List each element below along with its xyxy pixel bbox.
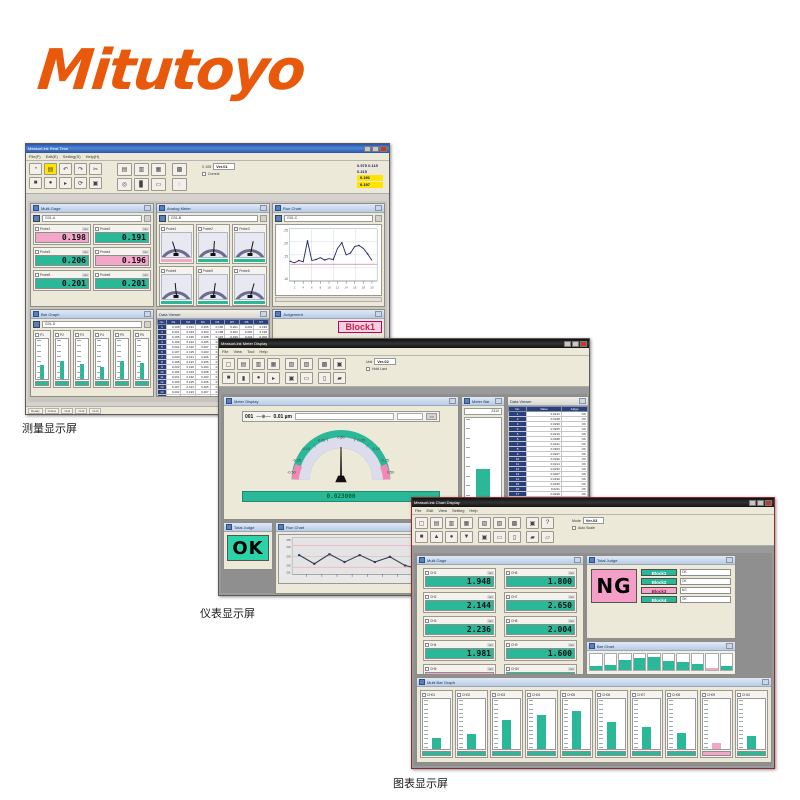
gauge-name: Probe1 (166, 227, 192, 231)
autoscale-checkbox[interactable] (572, 526, 576, 530)
toolbar-field-value[interactable]: Ver.03 (583, 517, 605, 524)
vbar-checkbox[interactable] (35, 333, 39, 337)
menu-help[interactable]: Help (259, 349, 267, 354)
window3-toolbar[interactable]: ▢ ▤ ▥ ▦ ▧ ▨ ▩ ▣ ? ■ ▲ ● ▼ ▣ ▭ ▯ ▰ ▱ (412, 515, 774, 546)
window2-titlebar[interactable]: MeasurLink Meter Display (219, 339, 589, 348)
vbar-track (597, 698, 626, 750)
window1-menubar[interactable]: File(F) Edit(E) Setting(S) Help(H) (26, 153, 389, 161)
measurement-cell[interactable]: Probe1 mm 0.198 (33, 224, 91, 245)
table-view-icon[interactable]: ▭ (151, 178, 166, 191)
status-online: Online (45, 408, 60, 414)
minimize-icon[interactable] (749, 500, 756, 506)
toolbar-field-label: X 105 (202, 165, 211, 169)
menu-setting[interactable]: Setting(S) (63, 154, 81, 159)
path-field[interactable]: G01-D (42, 321, 142, 328)
vertical-bar-gauge[interactable]: P4 (93, 330, 111, 388)
toolbar-field-value[interactable]: Ver.01 (213, 163, 235, 170)
panel-multi-gage-header[interactable]: Multi-Gage (31, 204, 153, 213)
measurement-cell[interactable]: CH1 mm 1.948 (423, 568, 496, 589)
vbar-name: CH02 (462, 693, 486, 697)
block-field[interactable]: OK (680, 569, 731, 576)
window1-window-buttons[interactable] (364, 146, 387, 152)
vertical-bar-gauge[interactable]: CH03 (490, 690, 523, 758)
strip-bar[interactable] (633, 653, 647, 671)
panel-data-viewer-2-header[interactable]: Data Viewer (508, 397, 588, 406)
stop-icon[interactable]: ■ (29, 177, 42, 189)
cell-checkbox[interactable] (506, 643, 510, 647)
zoom-out-icon[interactable]: ▨ (300, 358, 313, 370)
mdi-empty-area (738, 555, 772, 675)
layout-grid-icon[interactable]: ▩ (172, 163, 187, 176)
strip-bar[interactable] (676, 653, 690, 671)
panel-analog-meter-title: Analog Meter (167, 206, 191, 211)
measurement-cell[interactable]: CH4 mm 1.981 (423, 640, 496, 661)
cell-checkbox[interactable] (425, 643, 429, 647)
toolbar-field-value[interactable]: Ver.02 (374, 358, 396, 365)
panel-close-icon[interactable] (375, 205, 382, 211)
zoom-in-icon[interactable]: ▧ (478, 517, 491, 529)
menu-edit[interactable]: Edit (426, 508, 433, 513)
chart-view-icon[interactable]: ◌ (172, 178, 187, 191)
menu-tool[interactable]: Tool (247, 349, 254, 354)
svg-text:0.50: 0.50 (387, 471, 394, 475)
svg-text:.15: .15 (283, 255, 288, 259)
gauge-checkbox[interactable] (234, 227, 238, 231)
vbar-track (55, 338, 69, 380)
measurement-cell[interactable]: Probe5 mm 0.201 (33, 270, 91, 291)
cell-checkbox[interactable] (506, 571, 510, 575)
strip-bar[interactable] (604, 653, 618, 671)
strip-bar[interactable] (618, 653, 632, 671)
panel-judgement-body: Block1 (273, 319, 384, 335)
block-button[interactable]: Block3 (641, 587, 677, 594)
vbar-fill (572, 711, 582, 749)
panel-multi-gage[interactable]: Multi-Gage G01-A Probe1 mm 0.198 (30, 203, 154, 307)
menu-help[interactable]: Help(H) (86, 154, 100, 159)
layout-split-icon[interactable]: ▤ (117, 163, 132, 176)
stop-icon[interactable]: ■ (222, 372, 235, 384)
strip-bar[interactable] (705, 653, 719, 671)
zoom-out-icon[interactable]: ▨ (493, 517, 506, 529)
chart-x-axis-ticks (289, 281, 377, 284)
window2-window-buttons[interactable] (564, 341, 587, 347)
panel-strip-chart-header[interactable]: Bar Chart (587, 642, 735, 651)
toolbar-group-main[interactable]: ▢ ▤ ▥ ▦ ▧ ▨ ▩ ▣ ■ ▮ ● ▸ ▣ ▭ ▯ ▰ (222, 358, 346, 384)
down-icon[interactable]: ▼ (460, 531, 473, 543)
next-icon[interactable]: ▸ (267, 372, 280, 384)
measurement-cell[interactable]: CH8 mm 2.004 (504, 616, 577, 637)
camera-icon[interactable]: ▣ (285, 372, 298, 384)
analog-gauge[interactable]: Probe2 (196, 224, 231, 264)
menu-file[interactable]: File (415, 508, 421, 513)
panel-close-icon[interactable] (726, 643, 733, 649)
panel-close-icon[interactable] (375, 311, 382, 317)
panel-bar-graph-title: Bar Graph (41, 312, 59, 317)
cell-name: CH1 (430, 571, 486, 575)
panel-total-judge-title: Total Judge (234, 525, 254, 530)
vbar-checkbox[interactable] (135, 333, 139, 337)
panel-strip-chart-title: Bar Chart (597, 644, 614, 649)
panel-total-judge-3[interactable]: Total Judge NG Block1 OK Block2 OK Block… (586, 555, 736, 639)
vbar-checkbox[interactable] (632, 693, 636, 697)
measurement-cell[interactable]: CH3 mm 2.236 (423, 616, 496, 637)
window3-menubar[interactable]: File Edit View Setting Help (412, 507, 774, 515)
open-icon[interactable]: ◔ (29, 163, 42, 175)
gauge-checkbox[interactable] (161, 269, 165, 273)
cell-value: 0.201 (35, 278, 89, 289)
gauge-face (161, 274, 192, 300)
grid-icon[interactable]: ▩ (318, 358, 331, 370)
meter-input-field[interactable] (295, 413, 394, 420)
delete-icon[interactable]: ▰ (526, 531, 539, 543)
panel-close-icon[interactable] (449, 398, 456, 404)
path-dropdown-icon[interactable] (144, 321, 151, 328)
panel-run-chart-body: G01-C (273, 213, 384, 304)
zoom-in-icon[interactable]: ▧ (285, 358, 298, 370)
cell-checkbox[interactable] (35, 250, 39, 254)
vertical-bar-gauge[interactable]: CH08 (665, 690, 698, 758)
cut-icon[interactable]: ✂ (89, 163, 102, 175)
maximize-icon[interactable] (757, 500, 764, 506)
strip-bar[interactable] (589, 653, 603, 671)
measurement-cell[interactable]: CH7 mm 2.650 (504, 592, 577, 613)
block-field[interactable]: OK (680, 596, 731, 603)
strip-bar-fill (619, 660, 631, 670)
refresh-icon[interactable]: ⟳ (74, 177, 87, 189)
menu-view[interactable]: View (233, 349, 242, 354)
strip-bar[interactable] (720, 653, 734, 671)
panel-total-judge[interactable]: Total Judge OK (223, 522, 273, 570)
cell-value: 1.600 (506, 648, 575, 659)
window-chart-display[interactable]: MeasurLink Chart Display File Edit View … (411, 497, 775, 769)
vbar-checkbox[interactable] (527, 693, 531, 697)
camera-icon[interactable]: ▣ (89, 177, 102, 189)
meter-header-row[interactable]: 001 —⊕— 0.01 µm >> (242, 411, 440, 422)
panel-judgement-header[interactable]: Judgement (273, 310, 384, 319)
cell-checkbox[interactable] (35, 273, 39, 277)
panel-close-icon[interactable] (726, 557, 733, 563)
vbar-checkbox[interactable] (737, 693, 741, 697)
toolbar-field-group[interactable]: Mode Ver.03 Auto Scale (572, 517, 604, 530)
block-field[interactable]: NG (680, 587, 731, 594)
panel-strip-chart[interactable]: Bar Chart (586, 641, 736, 675)
panel-multi-gage-3-header[interactable]: Multi Gage (417, 556, 583, 565)
vbar-fill (537, 715, 547, 749)
vbar-checkbox[interactable] (702, 693, 706, 697)
window1-toolbar[interactable]: ◔ ▤ ↶ ↷ ✂ ■ ● ▸ ⟳ ▣ ▤ ▥ ▦ ▩ ◎ (26, 161, 389, 194)
bar-view-icon[interactable]: ▊ (134, 178, 149, 191)
minimize-icon[interactable] (364, 146, 371, 152)
vertical-bar-gauge[interactable]: CH05 (560, 690, 593, 758)
strip-bar[interactable] (647, 653, 661, 671)
cell-checkbox[interactable] (425, 595, 429, 599)
cell-unit: mm (142, 250, 149, 254)
measurement-cell[interactable]: CH9 mm 1.600 (504, 640, 577, 661)
settings-icon[interactable]: ▣ (526, 517, 539, 529)
gauge-checkbox[interactable] (234, 269, 238, 273)
paste-icon[interactable]: ▯ (508, 531, 521, 543)
close-icon[interactable] (580, 341, 587, 347)
vbar-value (562, 751, 591, 756)
vbar-header: CH02 (457, 692, 486, 697)
panel-run-chart[interactable]: Run Chart G01-C (272, 203, 385, 307)
hold-checkbox[interactable] (366, 367, 370, 371)
analog-gauge[interactable]: Probe5 (196, 266, 231, 306)
vbar-checkbox[interactable] (597, 693, 601, 697)
panel-meter-bar-header[interactable]: Meter Bar (462, 397, 504, 406)
block-field[interactable]: OK (680, 578, 731, 585)
block-row[interactable]: Block1 OK (641, 569, 731, 576)
panel-close-icon[interactable] (495, 398, 502, 404)
panel-bar-graph-header[interactable]: Bar Graph (31, 310, 153, 319)
panel-multi-bar-graph-header[interactable]: Multi Bar Graph (417, 678, 771, 687)
svg-text:.02: .02 (286, 564, 291, 568)
measurement-cell[interactable]: Probe4 mm 0.196 (93, 247, 151, 268)
panel-total-judge-3-header[interactable]: Total Judge (587, 556, 735, 565)
vbar-checkbox[interactable] (75, 333, 79, 337)
toolbar-field-group[interactable]: Unit Ver.02 Hold Last (366, 358, 396, 371)
vertical-bar-gauge[interactable]: CH07 (630, 690, 663, 758)
record-icon[interactable]: ● (252, 372, 265, 384)
panel-close-icon[interactable] (144, 205, 151, 211)
panel-close-icon[interactable] (762, 679, 769, 685)
vbar-fill (642, 727, 652, 749)
panel-data-viewer-header[interactable]: Data Viewer (157, 310, 269, 319)
vertical-bar-gauge[interactable]: CH09 (700, 690, 733, 758)
toolbar-group-file[interactable]: ◔ ▤ ↶ ↷ ✂ ■ ● ▸ ⟳ ▣ (29, 163, 102, 189)
cell-checkbox[interactable] (506, 619, 510, 623)
vbar-name: CH03 (497, 693, 521, 697)
minimize-icon[interactable] (564, 341, 571, 347)
menu-file[interactable]: File (222, 349, 228, 354)
vbar-value (457, 751, 486, 756)
cell-checkbox[interactable] (506, 667, 510, 671)
undo-icon[interactable]: ↶ (59, 163, 72, 175)
status-ch2: CH2 (75, 408, 87, 414)
vertical-bar-gauge[interactable]: CH04 (525, 690, 558, 758)
vbar-name: CH08 (672, 693, 696, 697)
layout-rows-icon[interactable]: ▦ (151, 163, 166, 176)
vertical-bar-gauge[interactable]: CH10 (735, 690, 768, 758)
menu-file[interactable]: File(F) (29, 154, 41, 159)
strip-bar[interactable] (691, 653, 705, 671)
cell-checkbox[interactable] (425, 619, 429, 623)
panel-close-icon[interactable] (579, 398, 586, 404)
vbar-checkbox[interactable] (422, 693, 426, 697)
help-icon[interactable]: ? (541, 517, 554, 529)
path-dropdown-icon[interactable] (144, 215, 151, 222)
status-ch1: CH1 (61, 408, 73, 414)
table-cell: 0.190 (181, 395, 196, 398)
window2-toolbar[interactable]: ▢ ▤ ▥ ▦ ▧ ▨ ▩ ▣ ■ ▮ ● ▸ ▣ ▭ ▯ ▰ Un (219, 356, 589, 387)
panel-close-icon[interactable] (574, 557, 581, 563)
panel-total-judge-header[interactable]: Total Judge (224, 523, 272, 532)
block-button[interactable]: Block1 (641, 569, 677, 576)
vbar-value (737, 751, 766, 756)
readout-value1: 0.191 (357, 175, 383, 181)
measurement-cell[interactable]: Probe3 mm 0.206 (33, 247, 91, 268)
block-row[interactable]: Block4 OK (641, 596, 731, 603)
window2-menubar[interactable]: File View Tool Help (219, 348, 589, 356)
menu-help[interactable]: Help (469, 508, 477, 513)
grid-icon[interactable]: ▩ (508, 517, 521, 529)
vertical-bar-gauge[interactable]: P6 (133, 330, 151, 388)
stop-icon[interactable]: ■ (415, 531, 428, 543)
meter-second-field[interactable] (397, 413, 423, 420)
save-icon[interactable]: ▤ (44, 163, 57, 175)
print-icon[interactable]: ▦ (267, 358, 280, 370)
close-icon[interactable] (380, 146, 387, 152)
maximize-icon[interactable] (572, 341, 579, 347)
cell-checkbox[interactable] (95, 250, 99, 254)
panel-analog-meter[interactable]: Analog Meter G01-B Probe1 (156, 203, 270, 307)
vbar-checkbox[interactable] (492, 693, 496, 697)
toolbar-group-main[interactable]: ▢ ▤ ▥ ▦ ▧ ▨ ▩ ▣ ? ■ ▲ ● ▼ ▣ ▭ ▯ ▰ ▱ (415, 517, 554, 543)
play-icon[interactable]: ▸ (59, 177, 72, 189)
toolbar-field-group[interactable]: X 105 Ver.01 Correct (202, 163, 235, 176)
gauge-view-icon[interactable]: ◎ (117, 178, 132, 191)
cell-checkbox[interactable] (506, 595, 510, 599)
measurement-cell[interactable]: CH2 mm 2.144 (423, 592, 496, 613)
correct-checkbox[interactable] (202, 172, 206, 176)
window1-titlebar[interactable]: MeasurLink Real-Time (26, 144, 389, 153)
svg-text:.03: .03 (286, 555, 291, 559)
panel-run-chart-header[interactable]: Run Chart (273, 204, 384, 213)
measurement-cell[interactable]: CH10 mm 1.421 (504, 664, 577, 675)
menu-setting[interactable]: Setting (452, 508, 464, 513)
open-icon[interactable]: ▤ (430, 517, 443, 529)
gauge-checkbox[interactable] (198, 269, 202, 273)
up-icon[interactable]: ▲ (430, 531, 443, 543)
vbar-checkbox[interactable] (457, 693, 461, 697)
vertical-bar-gauge[interactable]: P1 (33, 330, 51, 388)
analog-gauge[interactable]: Probe6 (232, 266, 267, 306)
readout-line2: 0.215 (357, 169, 367, 174)
window3-window-buttons[interactable] (749, 500, 772, 506)
gauge-name: Probe5 (203, 269, 229, 273)
measurement-cell[interactable]: CH6 mm 1.800 (504, 568, 577, 589)
cell-value: 2.650 (506, 600, 575, 611)
vertical-bar-gauge[interactable]: P5 (113, 330, 131, 388)
panel-meter-bar-title: Meter Bar (472, 399, 490, 404)
measurement-cell[interactable]: Probe6 mm 0.201 (93, 270, 151, 291)
copy-icon[interactable]: ▭ (493, 531, 506, 543)
cell-unit: mm (487, 595, 494, 599)
panel-bar-graph[interactable]: Bar Graph G01-D P1 (30, 309, 154, 397)
camera-icon[interactable]: ▣ (478, 531, 491, 543)
open-icon[interactable]: ▤ (237, 358, 250, 370)
save-icon[interactable]: ▥ (445, 517, 458, 529)
close-icon[interactable] (765, 500, 772, 506)
vertical-bar-gauge[interactable]: P3 (73, 330, 91, 388)
path-field[interactable]: G01-C (284, 215, 373, 222)
analog-gauge[interactable]: Probe3 (232, 224, 267, 264)
block-row[interactable]: Block2 OK (641, 578, 731, 585)
new-icon[interactable]: ▢ (222, 358, 235, 370)
vbar-checkbox[interactable] (115, 333, 119, 337)
maximize-icon[interactable] (372, 146, 379, 152)
panel-total-judge-3-body: NG Block1 OK Block2 OK Block3 NG (587, 565, 735, 607)
record-icon[interactable]: ● (445, 531, 458, 543)
vbar-track (115, 338, 129, 380)
meter-more-button[interactable]: >> (426, 413, 437, 420)
multi-bar-grid: CH01CH02CH03CH04CH05CH06CH07CH08CH09CH10 (417, 687, 771, 761)
vertical-bar-gauge[interactable]: CH06 (595, 690, 628, 758)
panel-judgement[interactable]: Judgement Block1 (272, 309, 385, 339)
block-button[interactable]: Block4 (641, 596, 677, 603)
cell-checkbox[interactable] (95, 273, 99, 277)
window3-titlebar[interactable]: MeasurLink Chart Display (412, 498, 774, 507)
panel-analog-meter-header[interactable]: Analog Meter (157, 204, 269, 213)
vbar-checkbox[interactable] (55, 333, 59, 337)
strip-bar[interactable] (662, 653, 676, 671)
path-dropdown-icon[interactable] (375, 215, 382, 222)
measurement-cell[interactable]: Probe2 mm 0.191 (93, 224, 151, 245)
gauge-checkbox[interactable] (198, 227, 202, 231)
panel-close-icon[interactable] (260, 205, 267, 211)
vbar-header: CH05 (562, 692, 591, 697)
copy-icon[interactable]: ▭ (300, 372, 313, 384)
vbar-checkbox[interactable] (562, 693, 566, 697)
record-icon[interactable]: ● (44, 177, 57, 189)
vbar-checkbox[interactable] (95, 333, 99, 337)
pause-icon[interactable]: ▮ (237, 372, 250, 384)
layout-columns-icon[interactable]: ▥ (134, 163, 149, 176)
vbar-checkbox[interactable] (667, 693, 671, 697)
save-icon[interactable]: ▥ (252, 358, 265, 370)
panel-close-icon[interactable] (260, 311, 267, 317)
svg-text:.01: .01 (286, 571, 291, 575)
export-icon[interactable]: ▱ (541, 531, 554, 543)
paste-icon[interactable]: ▯ (318, 372, 331, 384)
vertical-bar-gauge[interactable]: CH02 (455, 690, 488, 758)
panel-multi-gage-3-title: Multi Gage (427, 558, 446, 563)
redo-icon[interactable]: ↷ (74, 163, 87, 175)
path-dropdown-icon[interactable] (260, 215, 267, 222)
vertical-bar-gauge[interactable]: P2 (53, 330, 71, 388)
measurement-cell[interactable]: CH5 mm 1.300 (423, 664, 496, 675)
settings-icon[interactable]: ▣ (333, 358, 346, 370)
analog-gauge[interactable]: Probe4 (159, 266, 194, 306)
toolbar-group-layout[interactable]: ▤ ▥ ▦ ▩ ◎ ▊ ▭ ◌ (117, 163, 187, 191)
block-row[interactable]: Block3 NG (641, 587, 731, 594)
path-field[interactable]: G01-B (168, 215, 258, 222)
svg-text:0.05: 0.05 (357, 439, 364, 443)
vertical-bar-gauge[interactable]: CH01 (420, 690, 453, 758)
panel-multi-bar-graph[interactable]: Multi Bar Graph CH01CH02CH03CH04CH05CH06… (416, 677, 772, 763)
new-icon[interactable]: ▢ (415, 517, 428, 529)
path-field[interactable]: G01-A (42, 215, 142, 222)
menu-edit[interactable]: Edit(E) (46, 154, 58, 159)
run-chart-1-svg: .25.20 .15.10 24 (276, 225, 381, 295)
panel-meter-display-header[interactable]: Meter Display (224, 397, 458, 406)
chart-hscrollbar[interactable] (275, 297, 382, 302)
gauge-checkbox[interactable] (161, 227, 165, 231)
svg-text:.04: .04 (286, 545, 291, 549)
delete-icon[interactable]: ▰ (333, 372, 346, 384)
cell-checkbox[interactable] (425, 667, 429, 671)
cell-checkbox[interactable] (95, 227, 99, 231)
cell-checkbox[interactable] (35, 227, 39, 231)
panel-close-icon[interactable] (144, 311, 151, 317)
analog-gauge[interactable]: Probe1 (159, 224, 194, 264)
menu-view[interactable]: View (438, 508, 447, 513)
block-button[interactable]: Block2 (641, 578, 677, 585)
panel-multi-gage-3[interactable]: Multi Gage CH1 mm 1.948 CH6 mm 1.800 (416, 555, 584, 675)
vbar-ticks (739, 700, 743, 748)
cell-checkbox[interactable] (425, 571, 429, 575)
print-icon[interactable]: ▦ (460, 517, 473, 529)
